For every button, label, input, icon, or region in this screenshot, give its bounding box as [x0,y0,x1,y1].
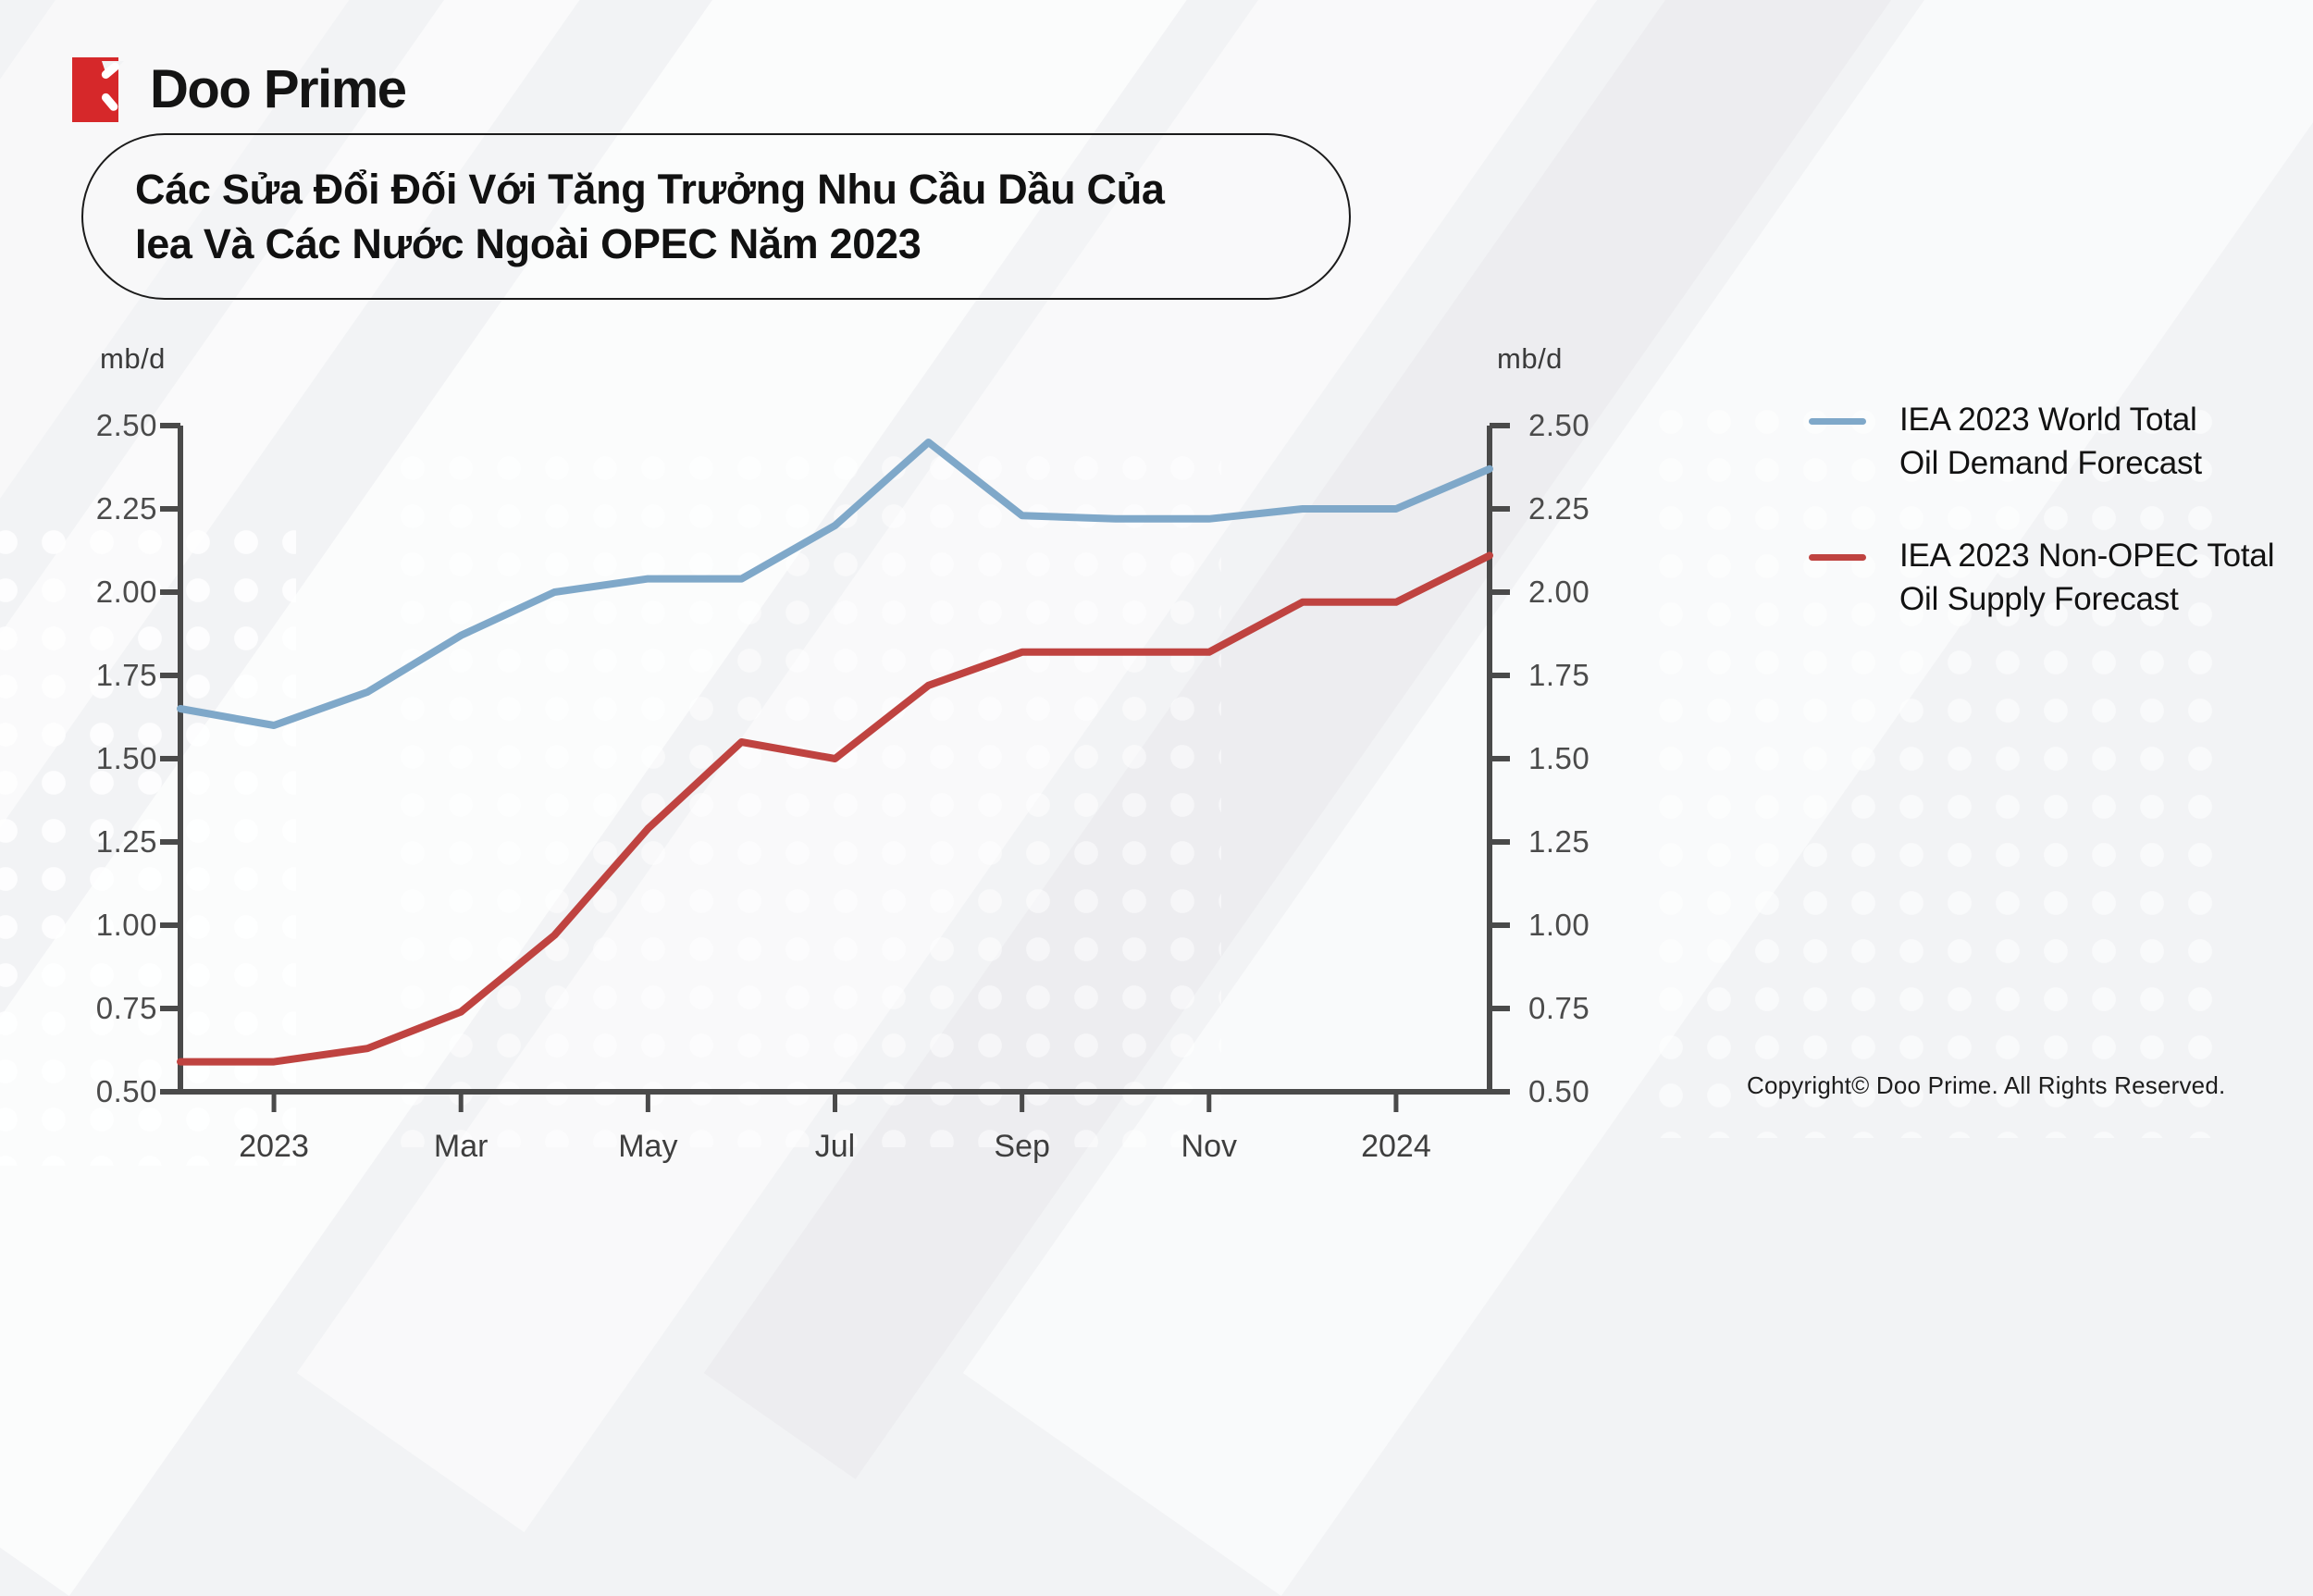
x-axis-tick-label: Nov [1181,1129,1237,1165]
y-axis-right-tick-label: 1.00 [1528,908,1589,943]
y-axis-left-tick-label: 1.75 [56,658,157,693]
page-title: Các Sửa Đổi Đối Với Tăng Trưởng Nhu Cầu … [135,162,1165,272]
legend-item[interactable]: IEA 2023 Non-OPEC TotalOil Supply Foreca… [1809,534,2274,622]
x-axis-tick-label: May [618,1129,677,1165]
x-axis-tick-label: Sep [994,1129,1050,1165]
page-title-line1: Các Sửa Đổi Đối Với Tăng Trưởng Nhu Cầu … [135,162,1165,217]
y-axis-right-tick-label: 2.50 [1528,408,1589,443]
y-axis-right-tick-label: 0.75 [1528,991,1589,1026]
brand-name: Doo Prime [150,63,406,117]
legend-color-swatch [1809,554,1866,561]
legend-label-line1: IEA 2023 Non-OPEC Total [1899,534,2274,577]
chart-title-pill: Các Sửa Đổi Đối Với Tăng Trưởng Nhu Cầu … [81,133,1351,300]
chart-legend: IEA 2023 World TotalOil Demand ForecastI… [1809,398,2274,669]
x-axis-tick-label: 2023 [239,1129,309,1165]
y-axis-right-tick-label: 1.25 [1528,824,1589,860]
x-axis-tick-label: 2024 [1361,1129,1431,1165]
page-title-line2: Iea Và Các Nước Ngoài OPEC Năm 2023 [135,217,1165,271]
y-axis-right-tick-label: 1.50 [1528,741,1589,776]
y-axis-left-tick-label: 0.50 [56,1074,157,1109]
y-axis-left-tick-label: 2.50 [56,408,157,443]
y-axis-left-tick-label: 0.75 [56,991,157,1026]
y-axis-right-tick-label: 2.00 [1528,575,1589,610]
y-axis-left-unit: mb/d [100,342,166,376]
y-axis-right-tick-label: 1.75 [1528,658,1589,693]
legend-color-swatch [1809,418,1866,425]
doo-prime-logo-icon [72,57,130,122]
x-axis-tick-label: Mar [434,1129,489,1165]
y-axis-right-tick-label: 0.50 [1528,1074,1589,1109]
y-axis-left-tick-label: 1.50 [56,741,157,776]
y-axis-left-tick-label: 2.00 [56,575,157,610]
legend-label-line2: Oil Supply Forecast [1899,577,2274,621]
y-axis-left-tick-label: 1.00 [56,908,157,943]
legend-item-label: IEA 2023 World TotalOil Demand Forecast [1899,398,2202,486]
y-axis-right-unit: mb/d [1497,342,1563,376]
y-axis-right-tick-label: 2.25 [1528,491,1589,526]
legend-label-line1: IEA 2023 World Total [1899,398,2202,441]
y-axis-left-tick-label: 2.25 [56,491,157,526]
y-axis-left-tick-label: 1.25 [56,824,157,860]
x-axis-tick-label: Jul [815,1129,855,1165]
legend-label-line2: Oil Demand Forecast [1899,441,2202,485]
legend-item-label: IEA 2023 Non-OPEC TotalOil Supply Foreca… [1899,534,2274,622]
legend-item[interactable]: IEA 2023 World TotalOil Demand Forecast [1809,398,2274,486]
copyright-notice: Copyright© Doo Prime. All Rights Reserve… [1747,1071,2225,1100]
brand-logo: Doo Prime [72,57,406,122]
